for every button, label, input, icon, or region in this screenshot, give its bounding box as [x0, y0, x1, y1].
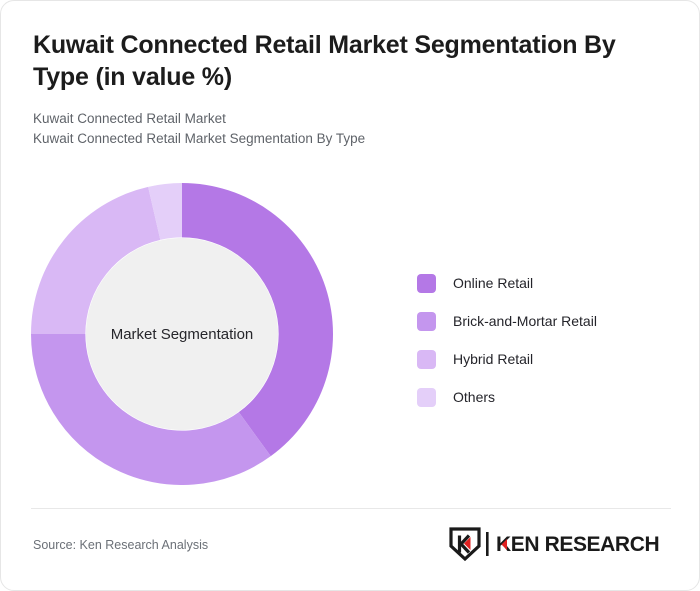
- ken-research-logo: KEN RESEARCH: [448, 525, 669, 563]
- legend-swatch: [417, 312, 436, 331]
- svg-text:KEN RESEARCH: KEN RESEARCH: [496, 533, 659, 556]
- page-title: Kuwait Connected Retail Market Segmentat…: [33, 29, 643, 93]
- donut-hole: [86, 238, 278, 430]
- footer-divider: [31, 508, 671, 509]
- legend-item[interactable]: Others: [417, 378, 667, 416]
- chart-subtitle-secondary: Kuwait Connected Retail Market Segmentat…: [33, 129, 643, 149]
- chart-header: Kuwait Connected Retail Market Segmentat…: [33, 29, 643, 149]
- plot-area: Market Segmentation Online RetailBrick-a…: [1, 166, 700, 506]
- legend-swatch: [417, 388, 436, 407]
- legend-item-label: Hybrid Retail: [453, 351, 533, 367]
- legend-item-label: Brick-and-Mortar Retail: [453, 313, 597, 329]
- legend-swatch: [417, 274, 436, 293]
- legend-item-label: Others: [453, 389, 495, 405]
- legend-swatch: [417, 350, 436, 369]
- legend-item[interactable]: Hybrid Retail: [417, 340, 667, 378]
- legend-item[interactable]: Online Retail: [417, 264, 667, 302]
- subtitle-group: Kuwait Connected Retail Market Kuwait Co…: [33, 109, 643, 149]
- chart-subtitle-primary: Kuwait Connected Retail Market: [33, 109, 643, 129]
- legend-item[interactable]: Brick-and-Mortar Retail: [417, 302, 667, 340]
- donut-svg: [31, 183, 333, 485]
- donut-chart: Market Segmentation: [31, 183, 333, 485]
- chart-card: Kuwait Connected Retail Market Segmentat…: [0, 0, 700, 591]
- legend-item-label: Online Retail: [453, 275, 533, 291]
- ken-research-wordmark: KEN RESEARCH: [485, 531, 669, 557]
- ken-research-shield-icon: [448, 526, 482, 562]
- source-note: Source: Ken Research Analysis: [33, 538, 208, 552]
- chart-legend: Online RetailBrick-and-Mortar RetailHybr…: [417, 264, 667, 416]
